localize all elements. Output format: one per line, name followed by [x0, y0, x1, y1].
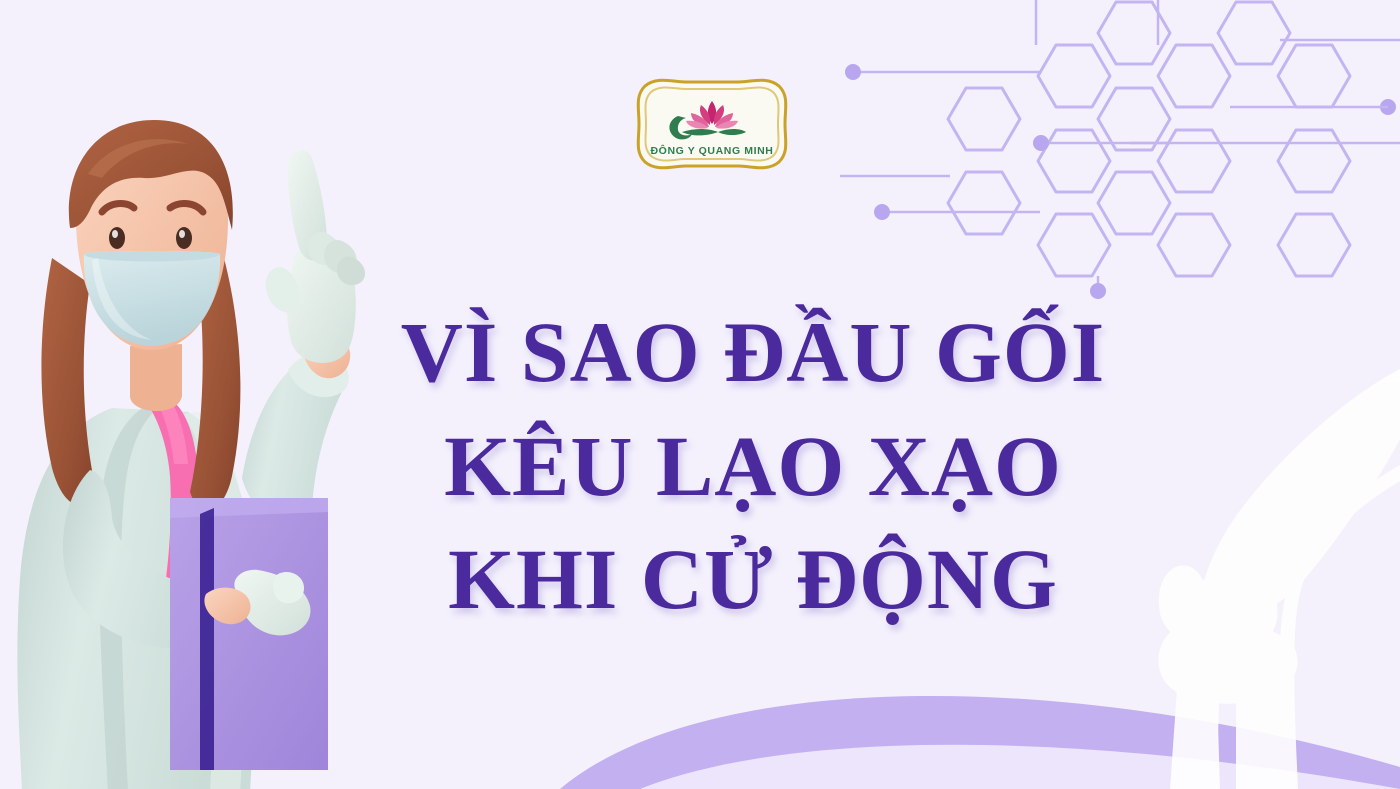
network-dot: [1033, 135, 1049, 151]
female-doctor-3d-character: [0, 78, 422, 789]
network-dot: [874, 204, 890, 220]
doctor-face-mask: [84, 251, 220, 346]
headline-line-3: KHI CỬ ĐỘNG: [398, 523, 1108, 637]
headline-line-2: KÊU LẠO XẠO: [398, 410, 1108, 524]
banner-canvas: ĐÔNG Y QUANG MINH: [0, 0, 1400, 789]
headline-line-1: VÌ SAO ĐẦU GỐI: [398, 296, 1108, 410]
doctor-pointing-hand: [266, 151, 365, 363]
headline-block: VÌ SAO ĐẦU GỐI KÊU LẠO XẠO KHI CỬ ĐỘNG: [398, 296, 1108, 637]
doctor-clipboard: [170, 498, 328, 770]
doctor-neck: [130, 344, 182, 411]
knee-joint-anatomy-silhouette: [1070, 369, 1400, 789]
network-dot: [845, 64, 861, 80]
logo-text: ĐÔNG Y QUANG MINH: [651, 144, 774, 157]
brand-logo-badge[interactable]: ĐÔNG Y QUANG MINH: [627, 78, 797, 170]
hexagon-molecule-network: [840, 0, 1400, 310]
